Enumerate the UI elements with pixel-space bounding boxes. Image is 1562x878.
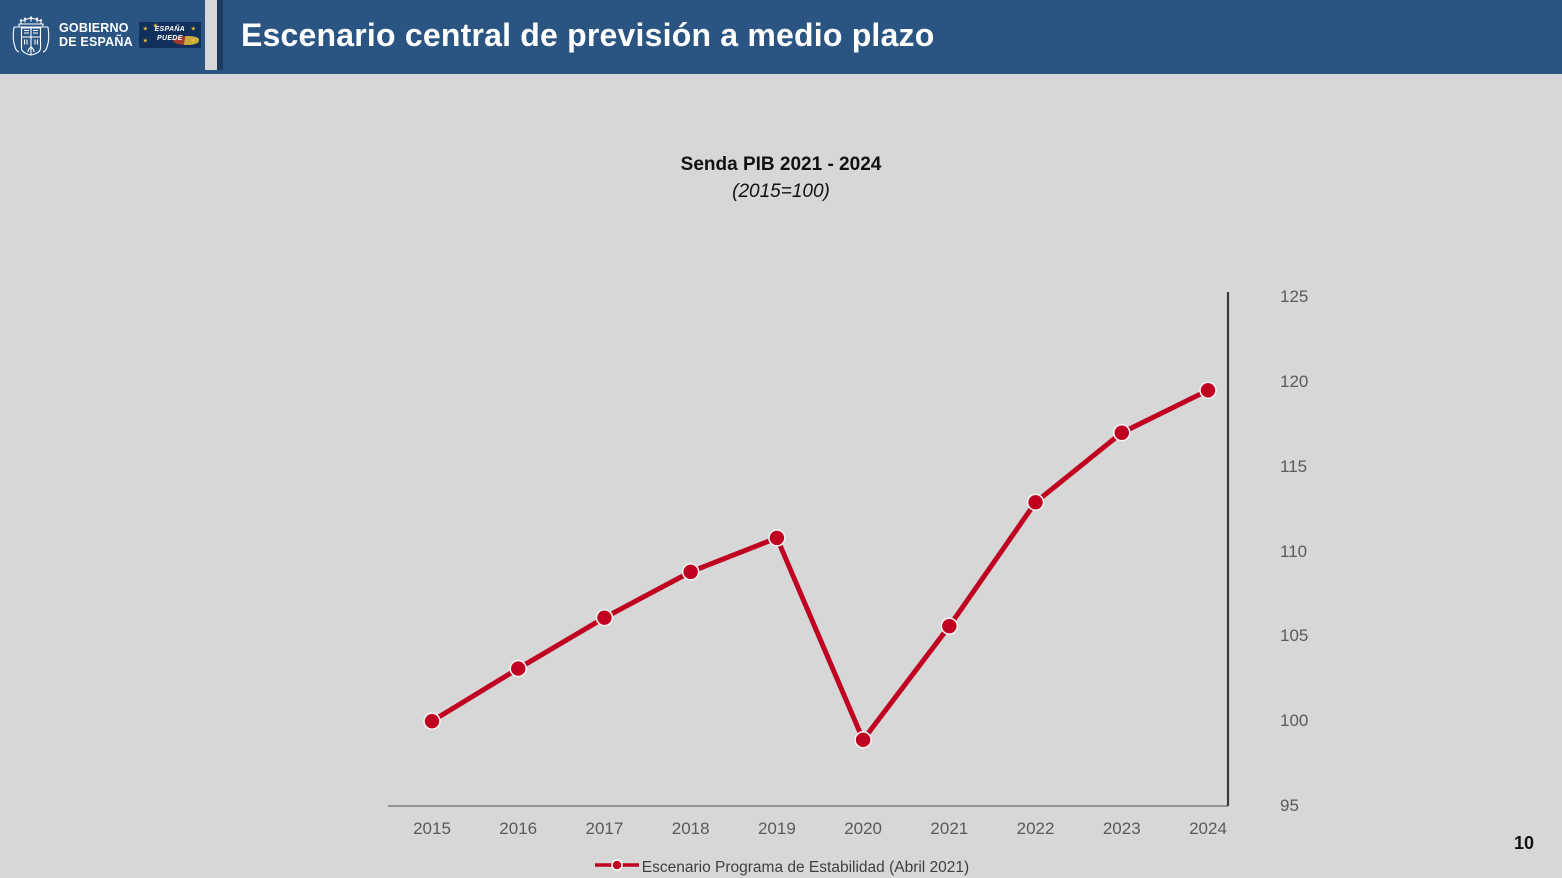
data-point-marker	[1028, 494, 1044, 510]
data-point-marker	[510, 661, 526, 677]
logo-line-2: DE ESPAÑA	[59, 35, 133, 49]
x-tick-2021: 2021	[930, 819, 968, 839]
chart-title: Senda PIB 2021 - 2024	[0, 154, 1562, 176]
y-tick-100: 100	[1280, 711, 1308, 731]
y-tick-120: 120	[1280, 372, 1308, 392]
x-tick-2017: 2017	[586, 819, 624, 839]
plot-area	[388, 209, 1268, 809]
data-point-marker	[424, 713, 440, 729]
y-axis-tick-labels: 95100105110115120125	[1280, 209, 1340, 829]
badge-line-2: PUEDE	[139, 34, 201, 43]
x-tick-2024: 2024	[1189, 819, 1227, 839]
x-axis-tick-labels: 2015201620172018201920202021202220232024	[388, 819, 1268, 849]
x-tick-2016: 2016	[499, 819, 537, 839]
data-point-marker	[596, 610, 612, 626]
page-header: GOBIERNO DE ESPAÑA ESPAÑA PUEDE Escenari…	[0, 0, 1562, 70]
x-tick-2020: 2020	[844, 819, 882, 839]
chart-subtitle: (2015=100)	[0, 181, 1562, 203]
data-point-marker	[941, 618, 957, 634]
legend-label-series-1: Escenario Programa de Estabilidad (Abril…	[642, 859, 969, 877]
x-tick-2019: 2019	[758, 819, 796, 839]
data-point-marker	[855, 732, 871, 748]
badge-line-1: ESPAÑA	[139, 25, 201, 34]
x-tick-2022: 2022	[1017, 819, 1055, 839]
government-logo: GOBIERNO DE ESPAÑA ESPAÑA PUEDE	[0, 0, 205, 70]
data-point-marker	[683, 564, 699, 580]
x-tick-2015: 2015	[413, 819, 451, 839]
y-tick-115: 115	[1280, 457, 1307, 477]
data-point-marker	[769, 530, 785, 546]
page-title: Escenario central de previsión a medio p…	[223, 0, 1562, 70]
y-tick-105: 105	[1280, 626, 1308, 646]
y-tick-125: 125	[1280, 287, 1308, 307]
coat-of-arms-icon	[8, 13, 54, 57]
logo-line-1: GOBIERNO	[59, 21, 133, 35]
legend-line-marker-icon	[593, 857, 641, 878]
data-point-marker	[1200, 382, 1216, 398]
y-tick-110: 110	[1280, 542, 1307, 562]
x-tick-2023: 2023	[1103, 819, 1141, 839]
y-tick-95: 95	[1280, 796, 1299, 816]
series-line-escenario	[432, 390, 1208, 740]
chart-container: Senda PIB 2021 - 2024 (2015=100) 9510010…	[0, 74, 1562, 872]
chart-legend: Escenario Programa de Estabilidad (Abril…	[0, 857, 1562, 878]
header-divider	[205, 0, 217, 70]
espana-puede-badge: ESPAÑA PUEDE	[139, 22, 201, 48]
page-number: 10	[1514, 833, 1534, 854]
data-point-marker	[1114, 425, 1130, 441]
logo-text: GOBIERNO DE ESPAÑA	[59, 21, 133, 49]
x-tick-2018: 2018	[672, 819, 710, 839]
